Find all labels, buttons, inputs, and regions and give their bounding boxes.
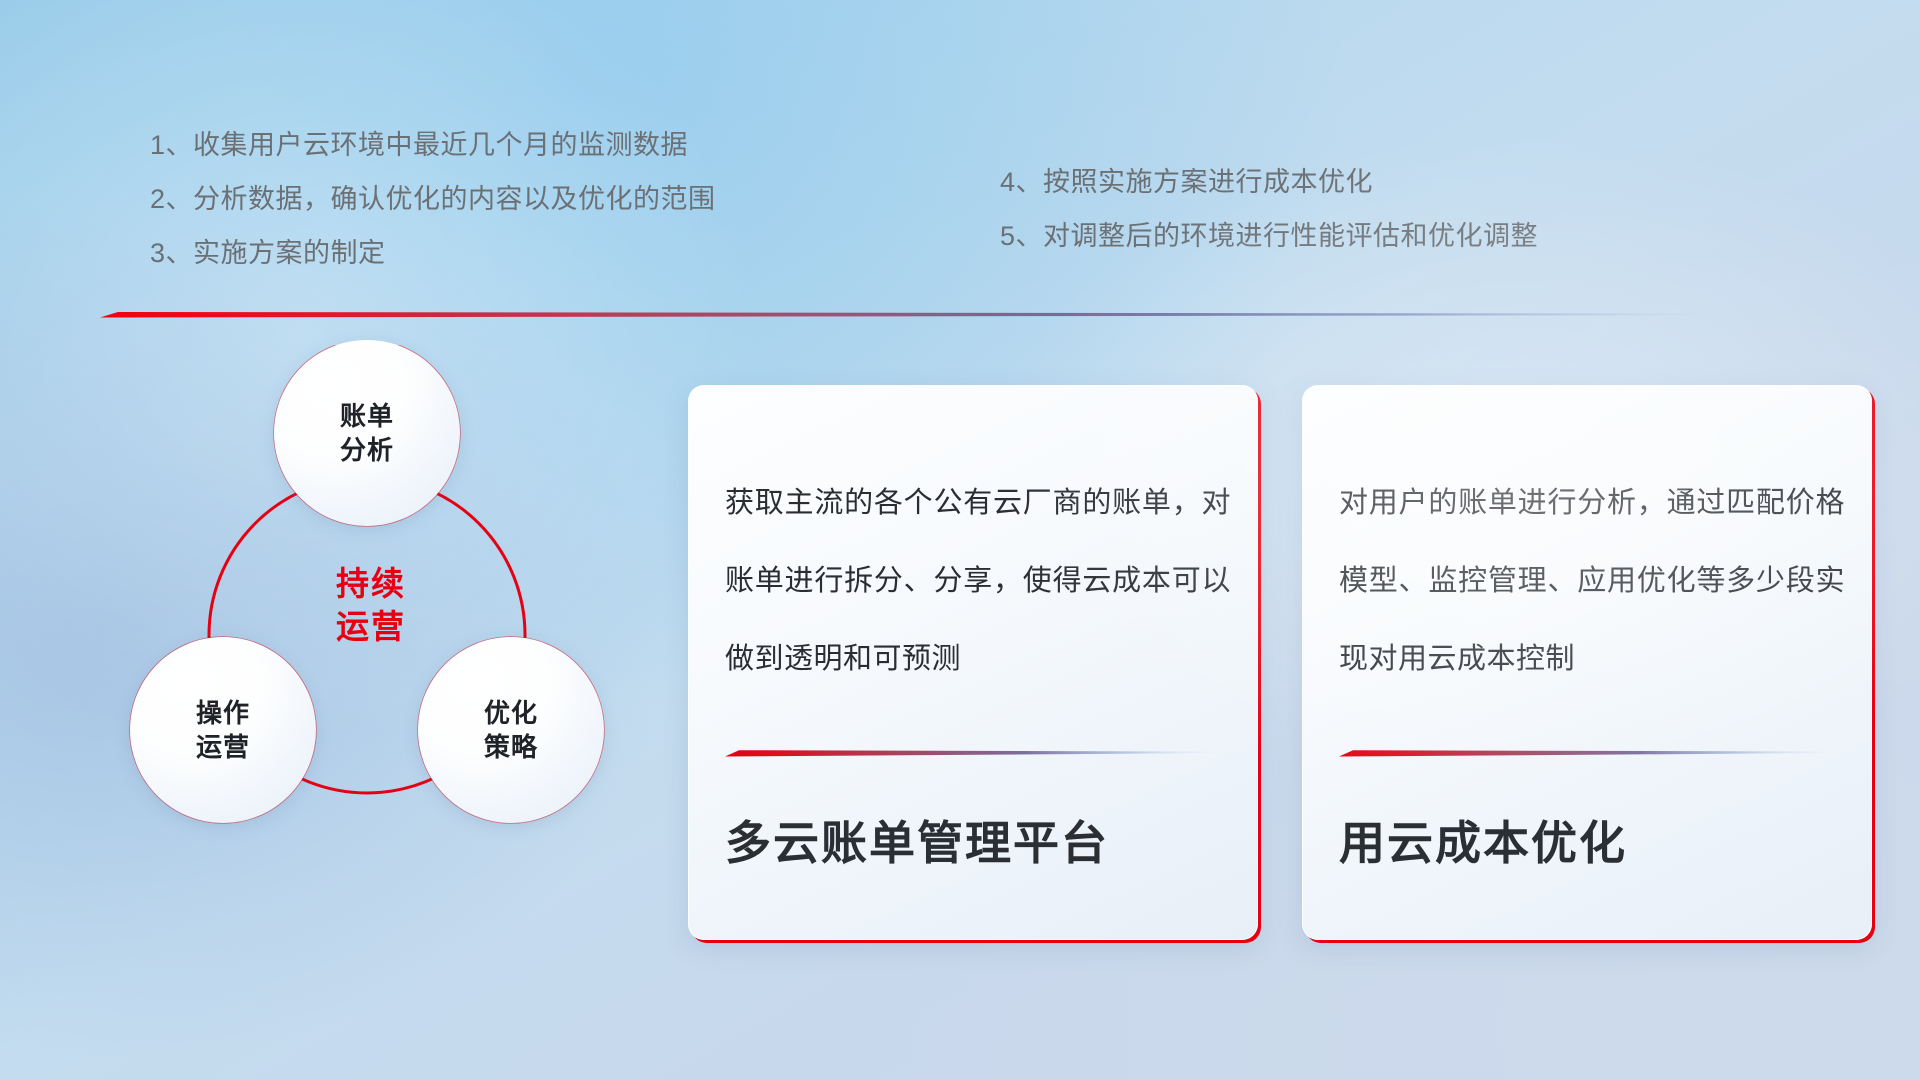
venn-bubble-label-line1: 优化 [484,698,538,728]
venn-bubble-label: 优化 策略 [484,696,538,765]
feature-card-multi-cloud-billing-platform[interactable]: 获取主流的各个公有云厂商的账单，对账单进行拆分、分享，使得云成本可以做到透明和可… [688,385,1258,940]
venn-diagram: 账单 分析 操作 运营 优化 策略 持续 运营 [100,345,660,945]
step-item: 3、实施方案的制定 [150,226,716,280]
card-body-text: 对用户的账单进行分析，通过匹配价格模型、监控管理、应用优化等多少段实现对用云成本… [1339,464,1845,698]
venn-bubble-label: 操作 运营 [196,696,250,765]
card-accent-rule [1339,746,1839,758]
venn-bubble-label-line1: 账单 [340,401,394,431]
steps-left-column: 1、收集用户云环境中最近几个月的监测数据 2、分析数据，确认优化的内容以及优化的… [150,118,716,280]
venn-bubble-operation-ops[interactable]: 操作 运营 [130,637,316,823]
venn-center-label: 持续 运营 [286,563,456,649]
step-item: 5、对调整后的环境进行性能评估和优化调整 [1000,209,1538,263]
venn-center-label-line1: 持续 [336,565,406,602]
venn-bubble-optimize-strategy[interactable]: 优化 策略 [418,637,604,823]
step-item: 2、分析数据，确认优化的内容以及优化的范围 [150,172,716,226]
steps-right-column: 4、按照实施方案进行成本优化 5、对调整后的环境进行性能评估和优化调整 [1000,155,1538,263]
step-item: 4、按照实施方案进行成本优化 [1000,155,1538,209]
venn-bubble-label-line1: 操作 [196,698,250,728]
card-accent-rule [725,746,1225,758]
card-title: 用云成本优化 [1339,816,1839,871]
card-rule-line-icon [725,747,1225,759]
card-title: 多云账单管理平台 [725,816,1225,871]
venn-bubble-label-line2: 分析 [340,435,394,465]
card-body-text: 获取主流的各个公有云厂商的账单，对账单进行拆分、分享，使得云成本可以做到透明和可… [725,464,1231,698]
card-rule-line-icon [1339,747,1839,759]
step-item: 1、收集用户云环境中最近几个月的监测数据 [150,118,716,172]
divider-line-icon [100,307,1730,321]
venn-bubble-label-line2: 策略 [484,732,538,762]
venn-bubble-bill-analysis[interactable]: 账单 分析 [274,340,460,526]
venn-bubble-label-line2: 运营 [196,732,250,762]
venn-center-label-line2: 运营 [336,608,406,645]
section-divider [100,307,1730,321]
feature-card-cloud-cost-optimization[interactable]: 对用户的账单进行分析，通过匹配价格模型、监控管理、应用优化等多少段实现对用云成本… [1302,385,1872,940]
slide-canvas: 1、收集用户云环境中最近几个月的监测数据 2、分析数据，确认优化的内容以及优化的… [0,0,1920,1080]
venn-bubble-label: 账单 分析 [340,399,394,468]
